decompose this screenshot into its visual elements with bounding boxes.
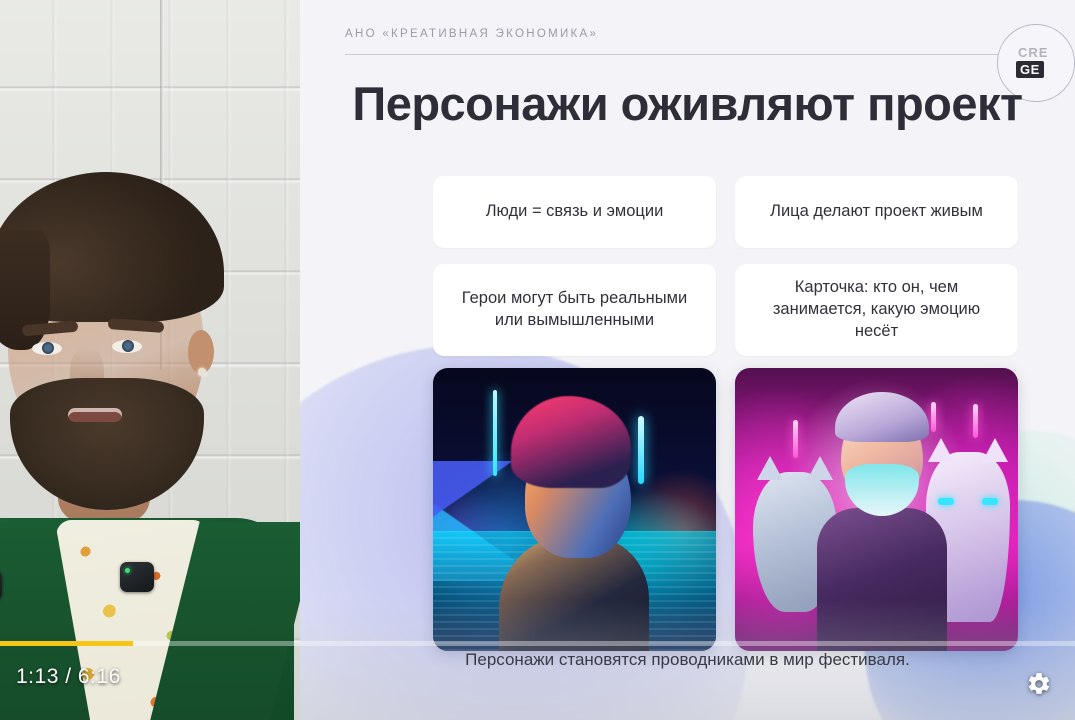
robot-eye-right (982, 498, 998, 505)
man-body (817, 508, 947, 651)
lapel-mic-right (120, 562, 154, 592)
neon-bar (493, 390, 497, 476)
neon-bar (638, 416, 644, 484)
earring (198, 368, 206, 376)
slide-pane: АНО «КРЕАТИВНАЯ ЭКОНОМИКА» CRE GE Персон… (300, 0, 1075, 720)
character-image-cyberpunk-woman (433, 368, 716, 651)
image-grid (433, 368, 1018, 651)
logo-top-text: CRE (1018, 45, 1048, 60)
beard (10, 378, 204, 510)
settings-button[interactable] (1017, 662, 1061, 706)
gear-icon (1026, 671, 1052, 697)
video-player-screen: АНО «КРЕАТИВНАЯ ЭКОНОМИКА» CRE GE Персон… (0, 0, 1075, 720)
mouth (68, 408, 122, 422)
neon-bar (973, 404, 978, 438)
neon-bar (793, 420, 798, 458)
info-card: Карточка: кто он, чем занимается, какую … (735, 264, 1018, 356)
man-hair (835, 392, 929, 442)
slide-title: Персонажи оживляют проект (300, 76, 1075, 131)
character-image-man-cat-robot (735, 368, 1018, 651)
iris-right (122, 340, 134, 352)
figure-hair (511, 396, 631, 488)
cards-grid: Люди = связь и эмоции Лица делают проект… (433, 176, 1018, 356)
iris-left (42, 342, 54, 354)
neon-bar (931, 402, 936, 432)
hair (0, 172, 224, 322)
slide-caption: Персонажи становятся проводниками в мир … (300, 650, 1075, 670)
progress-bar-fill[interactable] (0, 641, 133, 646)
video-pane[interactable] (0, 0, 300, 720)
info-card: Герои могут быть реальными или вымышленн… (433, 264, 716, 356)
time-display: 1:13 / 6:16 (16, 665, 121, 689)
robot-eye-left (938, 498, 954, 505)
info-card: Люди = связь и эмоции (433, 176, 716, 248)
organization-kicker: АНО «КРЕАТИВНАЯ ЭКОНОМИКА» (345, 28, 1037, 40)
header-divider (345, 54, 1037, 55)
speaker-figure (0, 150, 300, 720)
slide-header: АНО «КРЕАТИВНАЯ ЭКОНОМИКА» CRE GE (345, 28, 1037, 68)
progress-bar-track[interactable] (0, 641, 1075, 646)
info-card: Лица делают проект живым (735, 176, 1018, 248)
